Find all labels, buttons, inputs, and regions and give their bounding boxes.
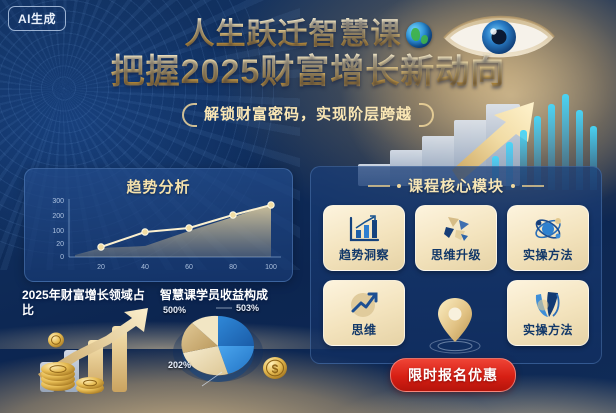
trend-line-chart: 300 200 100 20 0 20 40 60 80 100 — [31, 195, 286, 275]
bar-chart-growth-icon — [347, 214, 381, 244]
svg-text:80: 80 — [229, 264, 237, 271]
svg-text:100: 100 — [265, 264, 277, 271]
globe-icon — [406, 22, 432, 48]
module-card-thinking[interactable]: 思维 — [323, 280, 405, 346]
wealth-growth-label: 2025年财富增长领域占比 — [22, 288, 150, 318]
svg-text:20: 20 — [97, 264, 105, 271]
page-subtitle-headline: 把握2025财富增长新动向 — [111, 52, 506, 92]
trend-panel-title: 趋势分析 — [25, 169, 292, 197]
poster-root: AI生成 人生跃迁智慧课 把握2025财富增长新动向 解锁财富密码，实现阶层跨越… — [0, 0, 616, 413]
location-pin-icon — [424, 292, 486, 358]
header-dot-right — [511, 184, 515, 188]
upward-trend-circle-icon — [347, 289, 381, 319]
module-card-label: 实操方法 — [523, 321, 573, 338]
header-dash-right — [522, 185, 544, 187]
pie-label-left: 500% — [163, 305, 186, 315]
svg-text:0: 0 — [60, 254, 64, 261]
module-card-practical-method[interactable]: 实操方法 — [507, 205, 589, 271]
module-card-label: 趋势洞察 — [339, 246, 389, 263]
module-card-practical-method-2[interactable]: 实操方法 — [507, 280, 589, 346]
abstract-shards-icon — [439, 214, 473, 244]
student-income-label: 智慧课学员收益构成 — [160, 288, 292, 303]
core-modules-title: 课程核心模块 — [408, 175, 504, 196]
svg-text:20: 20 — [56, 241, 64, 248]
header-dot-left — [397, 184, 401, 188]
module-card-trend-insight[interactable]: 趋势洞察 — [323, 205, 405, 271]
svg-text:60: 60 — [185, 264, 193, 271]
atom-orbit-icon — [531, 214, 565, 244]
svg-text:200: 200 — [52, 213, 64, 220]
headline-tagline: 解锁财富密码，实现阶层跨越 — [182, 101, 434, 126]
svg-text:40: 40 — [141, 264, 149, 271]
pie-label-right: 503% — [236, 303, 259, 313]
page-title: 人生跃迁智慧课 — [185, 18, 402, 52]
module-card-label: 实操方法 — [523, 246, 573, 263]
pie-label-bottom: 202% — [168, 360, 191, 370]
header-dash-left — [368, 185, 390, 187]
svg-text:$: $ — [272, 362, 279, 376]
enroll-cta-button[interactable]: 限时报名优惠 — [390, 358, 516, 392]
svg-text:300: 300 — [52, 198, 64, 205]
module-card-label: 思维 — [351, 321, 376, 338]
trend-analysis-panel: 趋势分析 300 200 100 20 0 20 40 60 80 100 — [24, 168, 293, 282]
module-card-label: 思维升级 — [431, 246, 481, 263]
subtitle-row: 解锁财富密码，实现阶层跨越 — [0, 101, 616, 126]
title-line-1-row: 人生跃迁智慧课 — [0, 18, 616, 52]
headline-block: 人生跃迁智慧课 把握2025财富增长新动向 解锁财富密码，实现阶层跨越 — [0, 18, 616, 126]
checkmark-swoosh-icon — [531, 289, 565, 319]
svg-text:100: 100 — [52, 228, 64, 235]
ai-generated-badge: AI生成 — [8, 6, 66, 31]
title-line-2-row: 把握2025财富增长新动向 — [0, 52, 616, 92]
core-modules-header: 课程核心模块 — [311, 167, 601, 196]
module-card-mindset-upgrade[interactable]: 思维升级 — [415, 205, 497, 271]
